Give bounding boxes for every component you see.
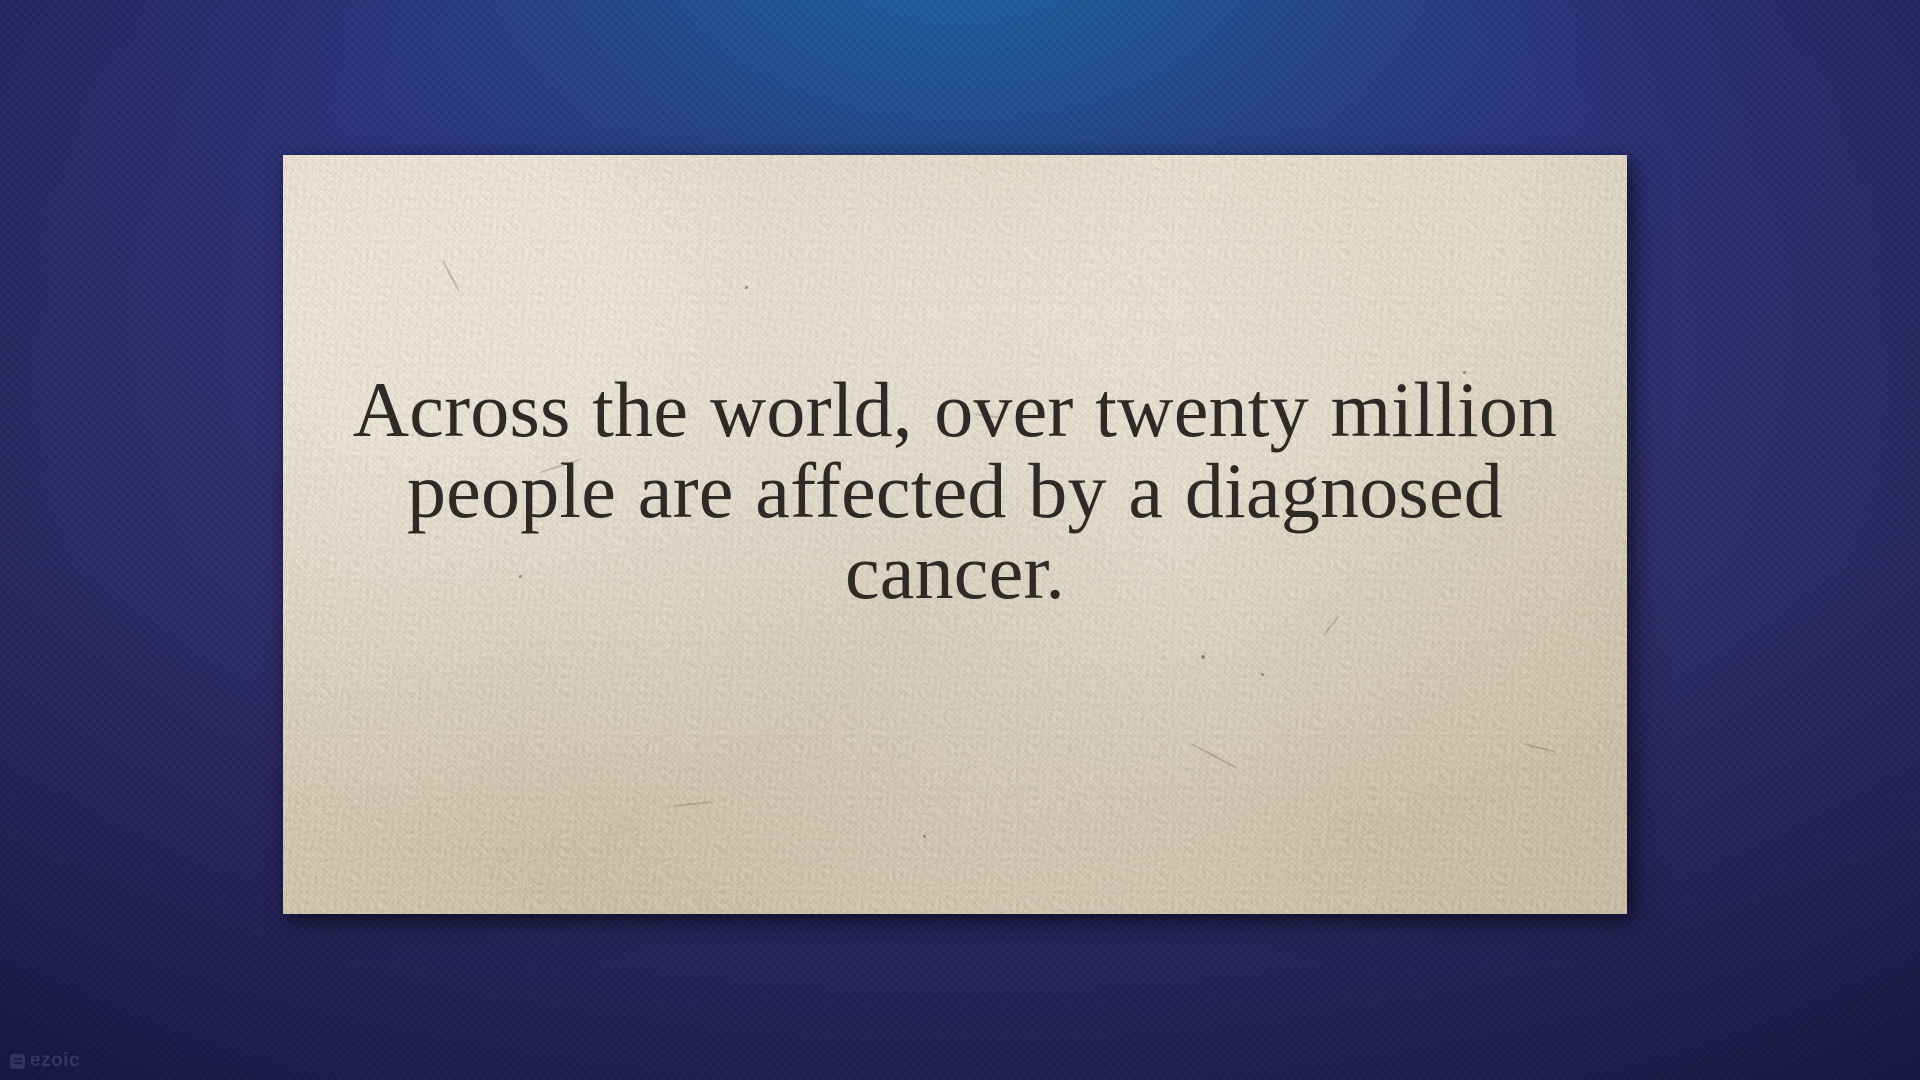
paper-fiber bbox=[1523, 743, 1556, 753]
ezoic-watermark-label: ezoic bbox=[30, 1050, 80, 1072]
presentation-slide: Across the world, over twenty million pe… bbox=[0, 0, 1920, 1080]
paper-speck bbox=[745, 286, 748, 289]
paper-fiber bbox=[1191, 743, 1238, 769]
paper-fiber bbox=[673, 801, 713, 807]
quote-text: Across the world, over twenty million pe… bbox=[283, 369, 1627, 612]
paper-speck bbox=[923, 835, 926, 838]
quote-line-3: cancer. bbox=[343, 531, 1567, 612]
ezoic-watermark: ezoic bbox=[10, 1050, 80, 1072]
paper-fiber bbox=[442, 260, 461, 293]
quote-line-1: Across the world, over twenty million bbox=[343, 369, 1567, 450]
ezoic-logo-icon bbox=[10, 1054, 25, 1069]
paper-speck bbox=[1261, 673, 1264, 676]
quote-line-2: people are affected by a diagnosed bbox=[343, 450, 1567, 531]
paper-speck bbox=[1201, 655, 1205, 659]
parchment-panel: Across the world, over twenty million pe… bbox=[283, 155, 1627, 914]
paper-fiber bbox=[1322, 615, 1340, 637]
